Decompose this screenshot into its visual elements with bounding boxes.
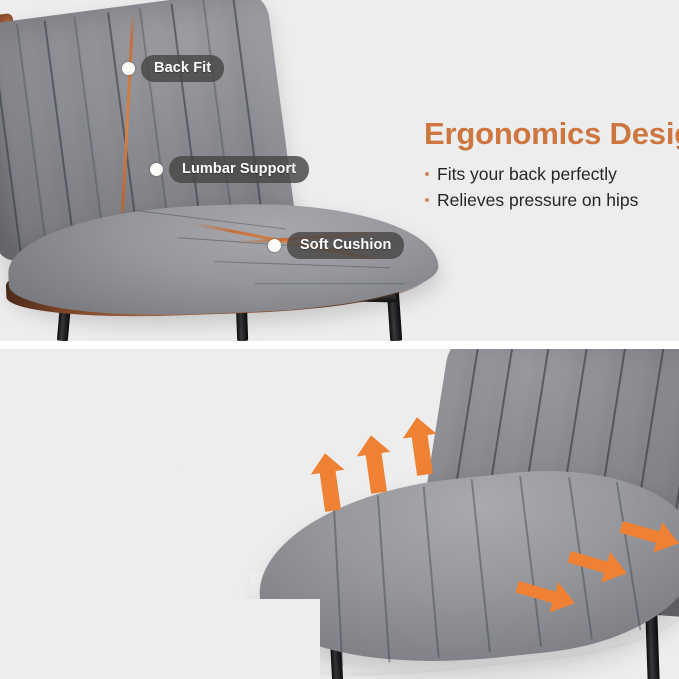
- panel-divider: [0, 341, 679, 349]
- ergonomics-bullet-list: Fits your back perfectly Relieves pressu…: [424, 161, 679, 214]
- seat-seam: [214, 261, 390, 269]
- seat-channel: [519, 476, 542, 647]
- backrest-channel: [232, 0, 263, 222]
- seat-channel: [423, 486, 440, 657]
- bullet-text: Fits your back perfectly: [437, 164, 617, 184]
- bullet-text: Relieves pressure on hips: [437, 190, 638, 210]
- backrest-channel: [16, 24, 47, 251]
- bullet-dot-icon: [425, 198, 429, 202]
- background-bleed: [0, 599, 320, 679]
- background-bleed: [0, 349, 332, 515]
- callout-dot-marker-icon: [268, 239, 281, 252]
- cushion-arrow-up-2: [354, 433, 396, 495]
- ergonomics-headline: Ergonomics Design: [424, 118, 679, 151]
- callout-lumbar-support[interactable]: Lumbar Support: [150, 156, 309, 183]
- comfort-panel: Comfortable & Soft PU leather material I…: [0, 349, 679, 679]
- callout-label: Lumbar Support: [169, 156, 309, 183]
- callout-soft-cushion[interactable]: Soft Cushion: [268, 232, 404, 259]
- callout-back-fit[interactable]: Back Fit: [122, 55, 224, 82]
- ergonomics-copy-block: Ergonomics Design Fits your back perfect…: [424, 118, 679, 213]
- backrest-channel: [44, 20, 75, 247]
- callout-dot-marker-icon: [122, 62, 135, 75]
- product-infographic: Back Fit Lumbar Support Soft Cushion Erg…: [0, 0, 679, 679]
- backrest-channel: [202, 0, 233, 226]
- cushion-arrow-up-1: [308, 451, 350, 513]
- backrest-channel: [73, 17, 104, 244]
- seat-channel: [377, 495, 390, 663]
- seat-channel: [471, 479, 491, 652]
- backrest-channel: [171, 4, 202, 231]
- callout-dot-marker-icon: [150, 163, 163, 176]
- backrest-channel: [0, 27, 21, 254]
- bullet-dot-icon: [425, 172, 429, 176]
- bullet-item: Relieves pressure on hips: [424, 187, 679, 213]
- seat-seam: [255, 283, 405, 284]
- callout-label: Back Fit: [141, 55, 224, 82]
- seat-channel: [333, 508, 343, 666]
- backrest-channel: [139, 8, 170, 235]
- callout-label: Soft Cushion: [287, 232, 404, 259]
- bullet-item: Fits your back perfectly: [424, 161, 679, 187]
- ergonomics-panel: Back Fit Lumbar Support Soft Cushion Erg…: [0, 0, 679, 341]
